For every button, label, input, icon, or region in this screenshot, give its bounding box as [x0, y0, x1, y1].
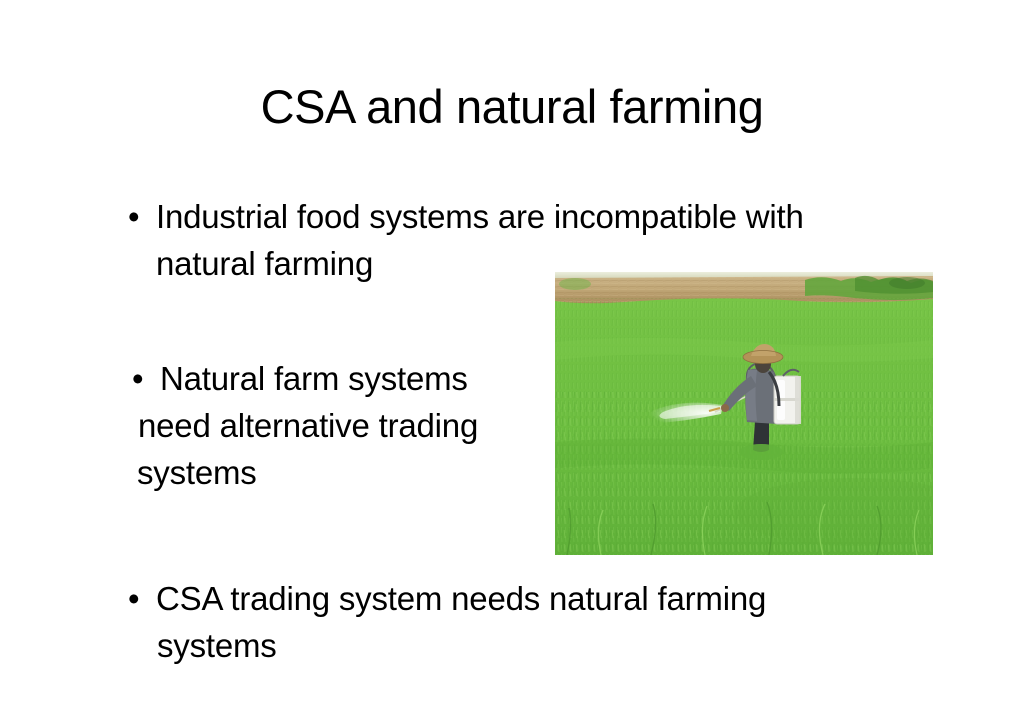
farmer-spraying-rice-field-photo	[555, 272, 933, 555]
bullet-text: CSA trading system needs natural farming	[156, 580, 766, 617]
bullet-dot-icon: •	[128, 193, 139, 240]
bullet-line: • Natural farm systems	[160, 355, 500, 402]
slide: CSA and natural farming • Industrial foo…	[0, 0, 1024, 724]
bullet-dot-icon: •	[128, 575, 139, 622]
bullet-text: natural farming	[156, 245, 373, 282]
bullet-dot-icon: •	[132, 355, 143, 402]
bullet-line: systems	[157, 622, 767, 669]
bullet-text: systems	[137, 454, 257, 491]
farmer-hand	[721, 404, 729, 412]
bullet-text: need alternative trading	[138, 407, 478, 444]
bullet-csa-trading-system: • CSA trading system needs natural farmi…	[156, 575, 766, 669]
farmer-spraying-rice-field-illustration	[555, 272, 933, 555]
bullet-line: • CSA trading system needs natural farmi…	[156, 575, 766, 622]
foreground-grass-occlusion	[739, 444, 783, 460]
bullet-natural-farm-systems: • Natural farm systems need alternative …	[160, 355, 500, 496]
bullet-text: Natural farm systems	[160, 360, 468, 397]
bullet-line: systems	[137, 449, 477, 496]
bullet-line: • Industrial food systems are incompatib…	[156, 193, 804, 240]
bullet-text: Industrial food systems are incompatible…	[156, 198, 804, 235]
bullet-text: systems	[157, 627, 277, 664]
bullet-line: need alternative trading	[138, 402, 478, 449]
